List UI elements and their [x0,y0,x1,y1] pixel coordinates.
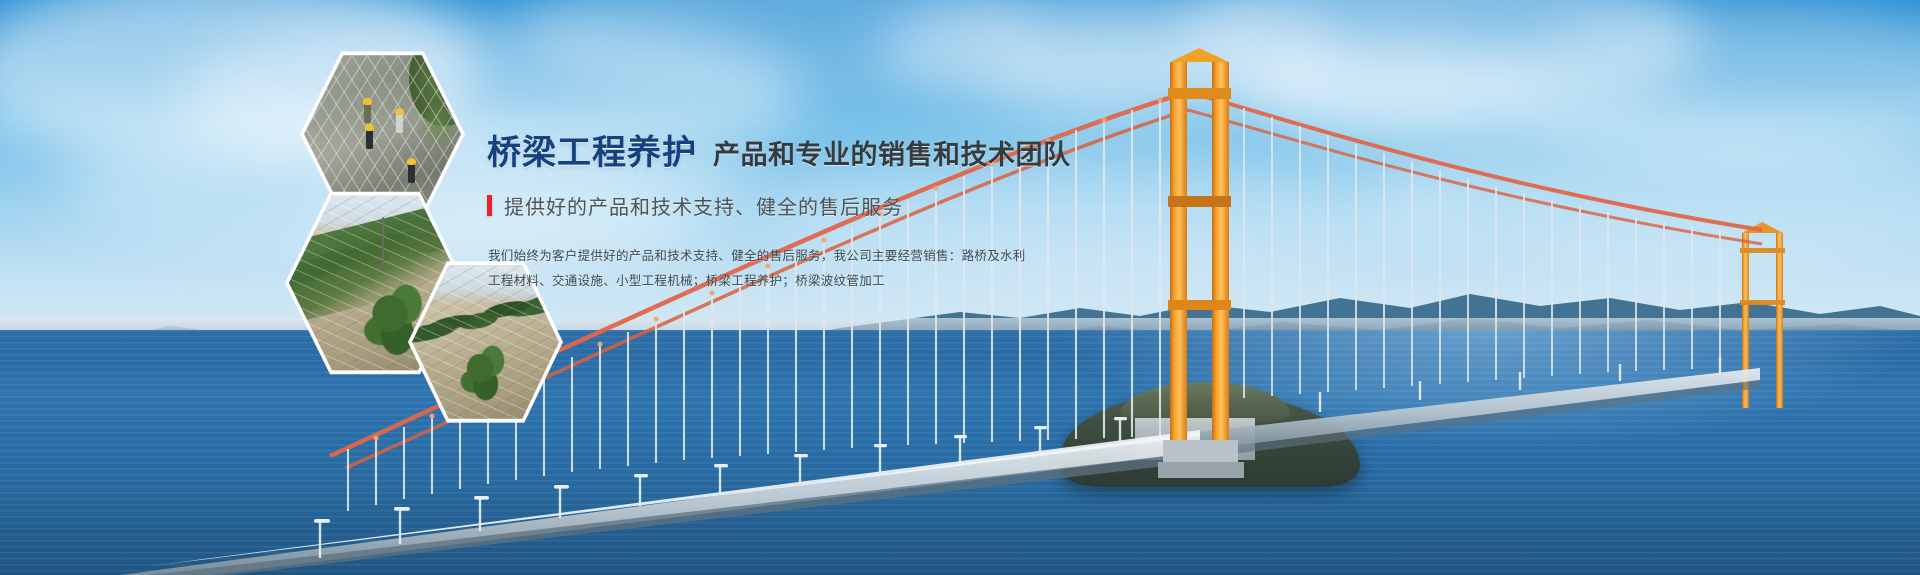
cloud [1380,120,1920,270]
banner-copy: 桥梁工程养护 产品和专业的销售和技术团队 提供好的产品和技术支持、健全的售后服务… [487,125,1047,294]
headline: 桥梁工程养护 产品和专业的销售和技术团队 [487,125,1047,174]
body-line-1: 我们始终为客户提供好的产品和技术支持、健全的售后服务，我公司主要经营销售：路桥及… [488,244,1047,269]
photo-worker [408,164,415,183]
photo-rock-slope-netting [304,52,461,216]
subheadline-text: 提供好的产品和技术支持、健全的售后服务 [504,191,903,220]
subheadline-row: 提供好的产品和技术支持、健全的售后服务 [487,191,1047,220]
red-accent-bar [487,195,492,216]
photo-foreground-tree [453,339,521,413]
sky-deep-gradient [0,0,1920,120]
body-line-2: 工程材料、交通设施、小型工程机械；桥梁工程养护；桥梁波纹管加工 [488,269,1047,294]
photo-worker [366,130,373,149]
hex-photo-1-image [304,52,461,216]
photo-utility-pole [382,217,384,264]
water-shimmer [0,330,1920,575]
headline-accent: 产品和专业的销售和技术团队 [713,133,1071,172]
island-pier [1135,418,1255,460]
photo-steel-mesh-overlay [304,52,461,216]
sea-water [0,330,1920,575]
headline-main: 桥梁工程养护 [487,125,697,174]
body-paragraph: 我们始终为客户提供好的产品和技术支持、健全的售后服务，我公司主要经营销售：路桥及… [488,244,1047,294]
hero-banner: 桥梁工程养护 产品和专业的销售和技术团队 提供好的产品和技术支持、健全的售后服务… [0,0,1920,575]
photo-worker [396,114,403,133]
photo-worker [364,104,371,123]
